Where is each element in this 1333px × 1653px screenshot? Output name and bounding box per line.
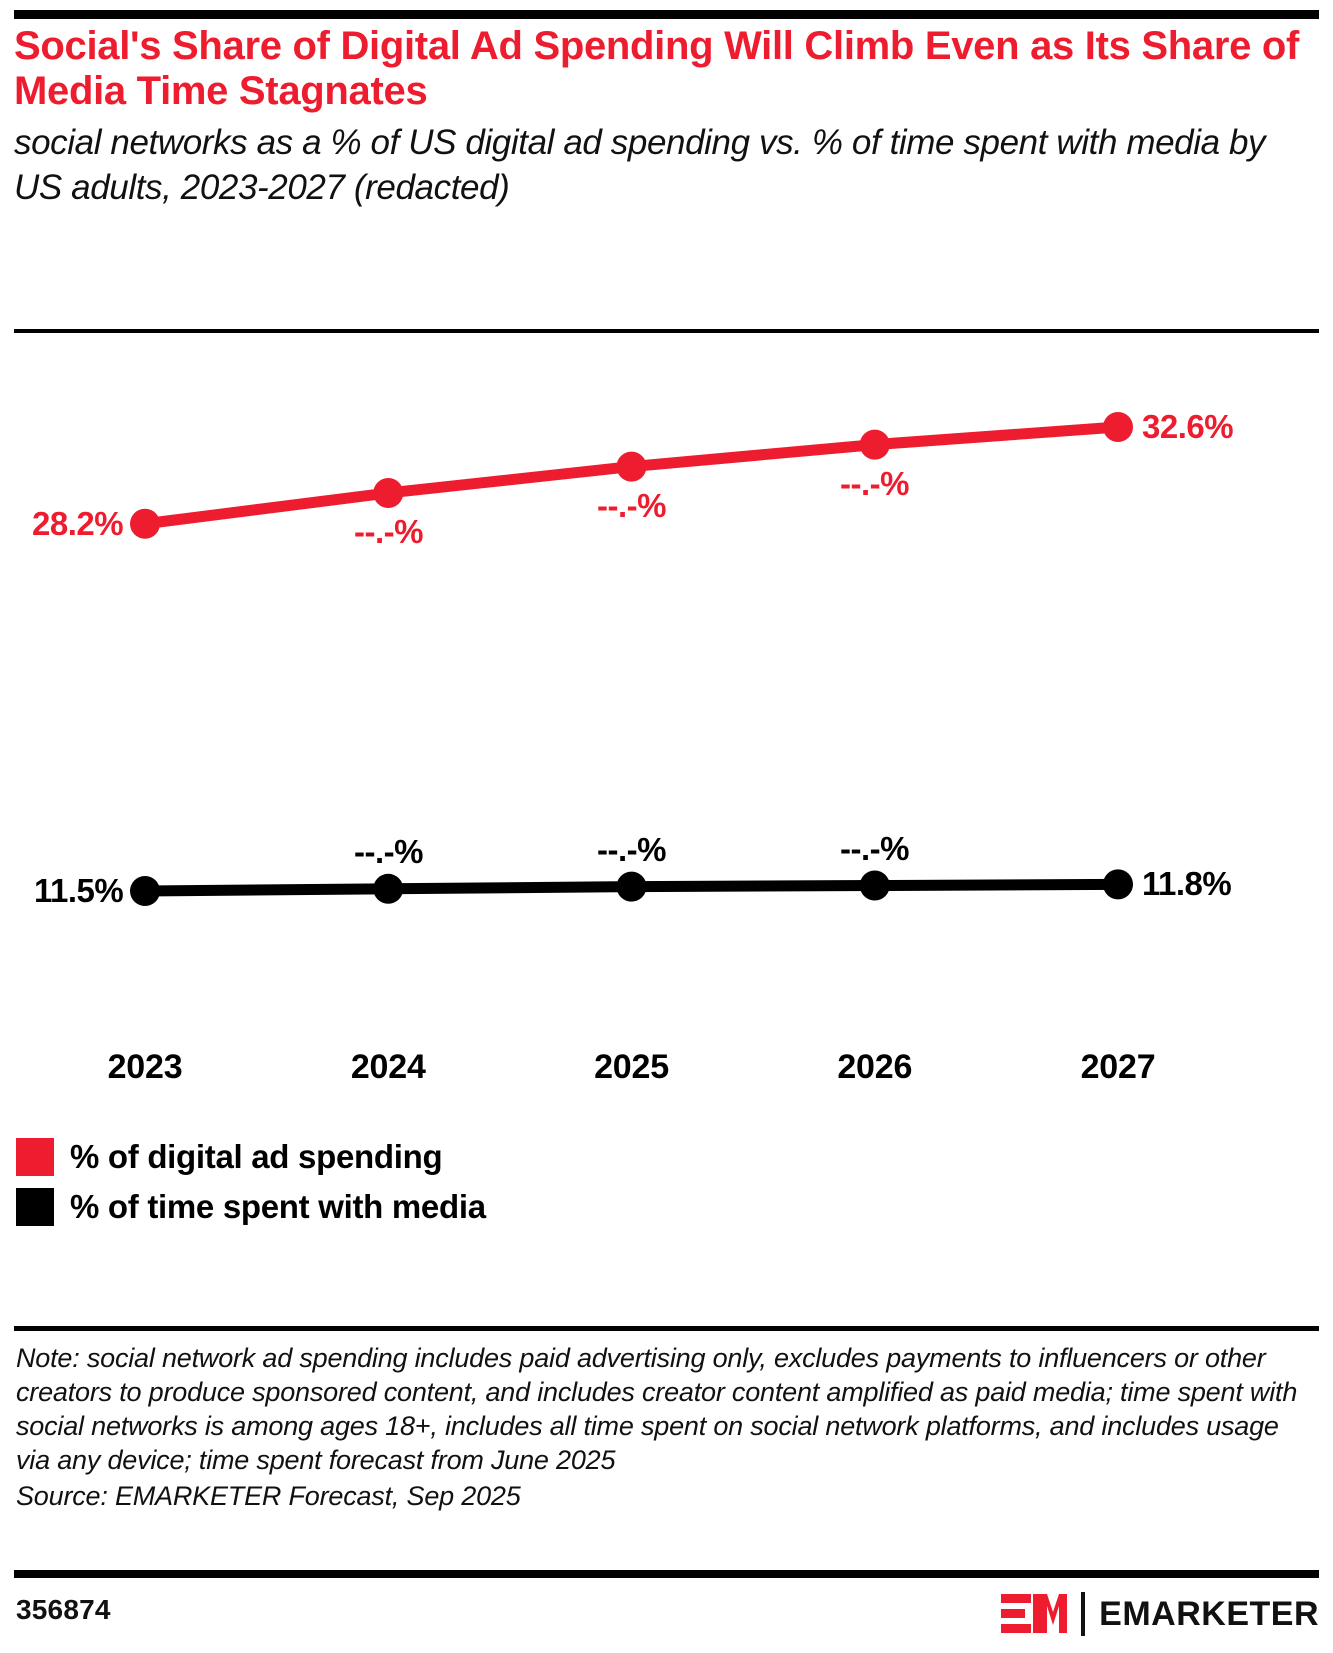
data-label: 11.5% [34,872,123,910]
legend-label-time-spent: % of time spent with media [70,1188,486,1226]
data-label: 32.6% [1142,408,1233,446]
source-text: Source: EMARKETER Forecast, Sep 2025 [16,1479,1306,1513]
x-axis: 20232024202520262027 [0,1048,1333,1098]
legend-item-digital-ad-spending[interactable]: % of digital ad spending [16,1135,916,1179]
x-axis-tick-2025: 2025 [594,1048,669,1087]
x-axis-tick-2024: 2024 [351,1048,426,1087]
title-divider-rule [14,329,1319,333]
top-divider-rule [14,10,1319,19]
data-point-marker [130,509,160,539]
footer-divider-rule [14,1570,1319,1578]
data-point-marker [860,871,890,901]
header-block: Social's Share of Digital Ad Spending Wi… [14,24,1304,210]
data-label: 11.8% [1142,865,1231,903]
chart-legend: % of digital ad spending % of time spent… [16,1135,916,1235]
data-label: --.-% [354,833,423,871]
page-subtitle: social networks as a % of US digital ad … [14,120,1304,210]
data-label: 28.2% [32,505,123,543]
x-axis-tick-2027: 2027 [1081,1048,1156,1087]
data-point-marker [1103,869,1133,899]
brand-wordmark: EMARKETER [1099,1595,1319,1634]
data-label: --.-% [840,465,909,503]
data-point-marker [1103,412,1133,442]
legend-swatch-black [16,1188,54,1226]
data-point-marker [617,452,647,482]
page-title: Social's Share of Digital Ad Spending Wi… [14,24,1304,114]
data-label: --.-% [597,487,666,525]
brand-divider [1081,1592,1085,1636]
legend-item-time-spent[interactable]: % of time spent with media [16,1185,916,1229]
x-axis-tick-2026: 2026 [837,1048,912,1087]
data-label: --.-% [354,513,423,551]
emarketer-em-logo-icon [1001,1592,1067,1636]
legend-label-digital-ad-spending: % of digital ad spending [70,1138,442,1176]
data-label: --.-% [597,831,666,869]
note-text: Note: social network ad spending include… [16,1341,1306,1477]
footer-block: 356874 EMARKETER [0,1586,1333,1646]
notes-block: Note: social network ad spending include… [16,1341,1306,1513]
brand-lockup[interactable]: EMARKETER [1001,1586,1319,1642]
chart-id: 356874 [16,1594,111,1626]
data-label: --.-% [840,830,909,868]
x-axis-tick-2023: 2023 [108,1048,183,1087]
data-point-marker [373,478,403,508]
legend-swatch-red [16,1138,54,1176]
chart-svg [0,340,1333,1040]
data-point-marker [860,430,890,460]
infographic-page: Social's Share of Digital Ad Spending Wi… [0,0,1333,1653]
line-chart: 28.2%--.-%--.-%--.-%32.6%11.5%--.-%--.-%… [0,340,1333,1040]
note-divider-rule [14,1326,1319,1331]
data-point-marker [373,874,403,904]
data-point-marker [617,872,647,902]
data-point-marker [130,876,160,906]
